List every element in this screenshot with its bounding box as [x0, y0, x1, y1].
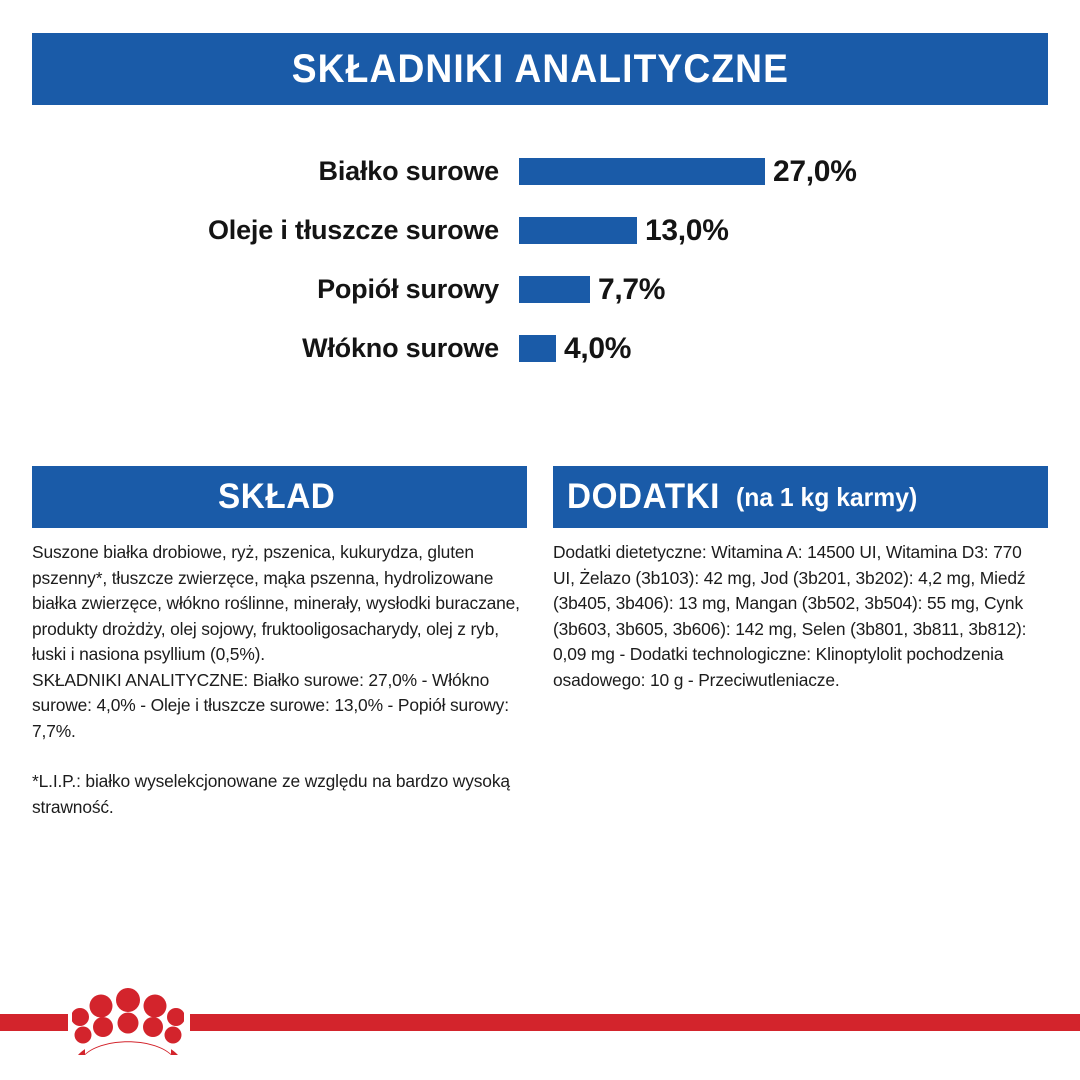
chart-value-label: 4,0% [564, 332, 631, 366]
chart-row: Białko surowe 27,0% [0, 142, 1080, 201]
additives-panel-subtitle: (na 1 kg karmy) [736, 482, 917, 513]
royal-canin-crown-logo [72, 985, 184, 1057]
additives-panel-body: Dodatki dietetyczne: Witamina A: 14500 U… [553, 528, 1048, 693]
chart-row: Włókno surowe 4,0% [0, 319, 1080, 378]
composition-panel-title: SKŁAD [218, 477, 335, 517]
composition-analytical-text: SKŁADNIKI ANALITYCZNE: Białko surowe: 27… [32, 668, 527, 745]
chart-bar [519, 217, 637, 244]
composition-footnote-text: *L.I.P.: białko wyselekcjonowane ze wzgl… [32, 769, 527, 820]
chart-bar-wrap: 13,0% [519, 214, 1080, 248]
footer-rule-right [190, 1014, 1080, 1031]
chart-category-label: Białko surowe [0, 156, 519, 187]
chart-value-label: 27,0% [773, 155, 857, 189]
chart-value-label: 7,7% [598, 273, 665, 307]
chart-bar [519, 276, 590, 303]
additives-panel-title: DODATKI [567, 477, 720, 517]
additives-panel: DODATKI (na 1 kg karmy) Dodatki dietetyc… [553, 466, 1048, 820]
footer-rule-left [0, 1014, 68, 1031]
analytical-constituents-chart: Białko surowe 27,0% Oleje i tłuszcze sur… [0, 142, 1080, 378]
chart-category-label: Włókno surowe [0, 333, 519, 364]
analytical-constituents-banner: SKŁADNIKI ANALITYCZNE [32, 33, 1048, 105]
composition-ingredients-text: Suszone białka drobiowe, ryż, pszenica, … [32, 540, 527, 668]
chart-bar [519, 335, 556, 362]
additives-panel-header: DODATKI (na 1 kg karmy) [553, 466, 1048, 528]
composition-panel-header: SKŁAD [32, 466, 527, 528]
chart-bar-wrap: 4,0% [519, 332, 1080, 366]
chart-value-label: 13,0% [645, 214, 729, 248]
chart-row: Oleje i tłuszcze surowe 13,0% [0, 201, 1080, 260]
chart-row: Popiół surowy 7,7% [0, 260, 1080, 319]
chart-category-label: Oleje i tłuszcze surowe [0, 215, 519, 246]
chart-category-label: Popiół surowy [0, 274, 519, 305]
chart-bar [519, 158, 765, 185]
info-panels: SKŁAD Suszone białka drobiowe, ryż, psze… [32, 466, 1048, 820]
chart-bar-wrap: 7,7% [519, 273, 1080, 307]
composition-panel-body: Suszone białka drobiowe, ryż, pszenica, … [32, 528, 527, 820]
chart-bar-wrap: 27,0% [519, 155, 1080, 189]
page-title: SKŁADNIKI ANALITYCZNE [291, 47, 788, 92]
composition-panel: SKŁAD Suszone białka drobiowe, ryż, psze… [32, 466, 527, 820]
additives-text: Dodatki dietetyczne: Witamina A: 14500 U… [553, 540, 1048, 693]
